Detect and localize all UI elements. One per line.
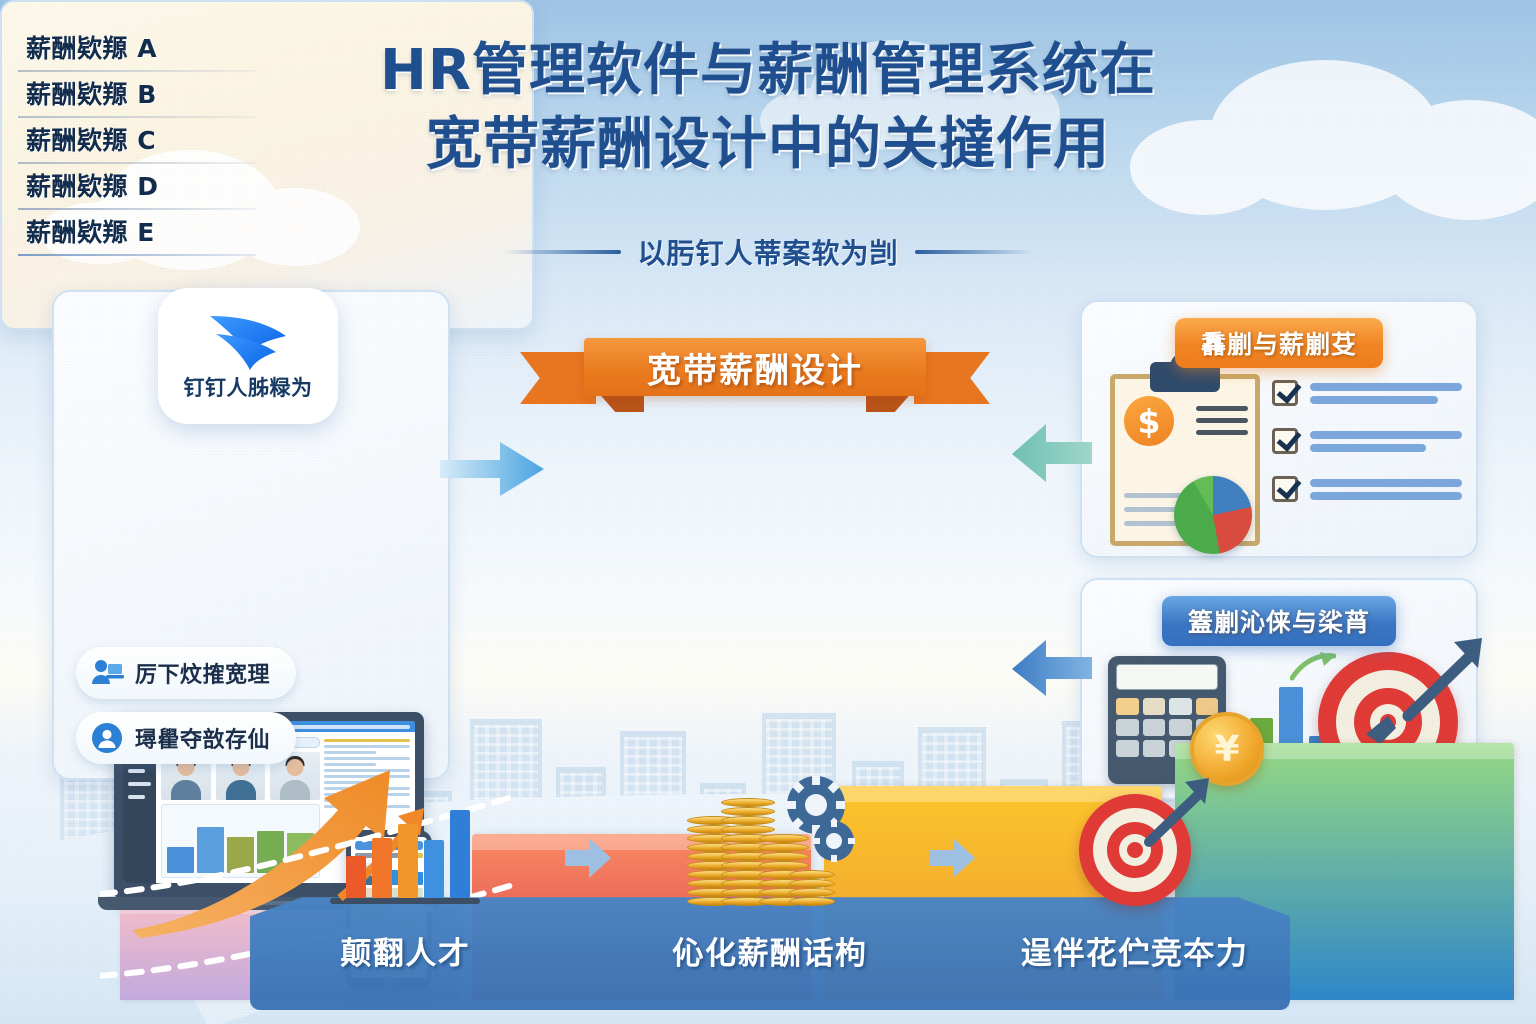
center-ribbon-banner: 宽带薪酬设计 <box>520 338 990 410</box>
flow-step-3[interactable]: 逞伴花伫竞夲力 <box>979 928 1290 973</box>
flow-step-2[interactable]: 伈化薪酬话枸 <box>615 928 926 973</box>
user-desk-icon <box>90 656 124 690</box>
user-circle-icon <box>90 721 124 755</box>
page-title: HR管理软件与薪酬管理系统在 宽带薪酬设计中的关撻作用 <box>0 34 1536 183</box>
ribbon-label: 宽带薪酬设计 <box>647 343 863 392</box>
pie-chart-icon <box>1174 476 1252 554</box>
dingtalk-logo-label: 钉钉人胏粶为 <box>184 372 313 402</box>
clipboard-icon: $ <box>1110 374 1260 546</box>
feature-tag-1[interactable]: 厉下炆搉宽理 <box>76 647 296 699</box>
flow-step-1[interactable]: 颠翻人才 <box>250 928 561 973</box>
bottom-right-badge-label: 篕剻沁俫与桬莦 <box>1188 608 1370 637</box>
dollar-coin-icon: $ <box>1124 396 1174 446</box>
checkbox-checked-icon[interactable] <box>1272 476 1298 502</box>
feature-tag-2-label: 璕雤夺敨存仙 <box>135 722 270 754</box>
checkbox-checked-icon[interactable] <box>1272 380 1298 406</box>
coin-stacks-gears-icon <box>685 776 855 906</box>
connector-top-right-to-center <box>1012 424 1092 488</box>
subtitle-rule-left <box>503 250 621 254</box>
flow-steps-row: 颠翻人才 伈化薪酬话枸 逞伴花伫竞夲力 <box>250 890 1290 1010</box>
subtitle-row: 以肟钉人蒂案软为剀 <box>0 232 1536 272</box>
subtitle-text: 以肟钉人蒂案软为剀 <box>637 232 898 272</box>
flow-step-3-label: 逞伴花伫竞夲力 <box>1021 928 1249 973</box>
checklist-item[interactable] <box>1272 476 1462 502</box>
flow-step-1-label: 颠翻人才 <box>340 928 470 973</box>
bottom-right-badge: 篕剻沁俫与桬莦 <box>1162 596 1396 646</box>
connector-left-to-center <box>440 440 548 502</box>
calculator-display <box>1116 664 1218 690</box>
dingtalk-wing-logo-icon <box>200 310 296 370</box>
flow-icon-cell-2 <box>615 776 926 906</box>
checklist-item[interactable] <box>1272 428 1462 454</box>
feature-tag-list: 厉下炆搉宽理 璕雤夺敨存仙 <box>76 647 296 764</box>
flow-step-2-label: 伈化薪酬话枸 <box>673 928 868 973</box>
top-right-badge-label: 馫剻与薪剻芟 <box>1201 330 1357 359</box>
gear-icon-small <box>813 820 855 862</box>
subtitle-rule-right <box>915 250 1033 254</box>
clipboard-text-lines <box>1196 406 1248 435</box>
title-line-1: HR管理软件与薪酬管理系统在 <box>0 34 1536 108</box>
top-right-badge: 馫剻与薪剻芟 <box>1175 318 1383 368</box>
feature-tag-1-label: 厉下炆搉宽理 <box>135 657 270 689</box>
flow-icons-row <box>250 756 1290 906</box>
checklist <box>1272 380 1462 502</box>
connector-bottom-right-to-center <box>1012 640 1092 702</box>
checkbox-checked-icon[interactable] <box>1272 428 1298 454</box>
ribbon-main: 宽带薪酬设计 <box>584 338 926 396</box>
dingtalk-logo-card[interactable]: 钉钉人胏粶为 <box>158 288 338 424</box>
title-line-2: 宽带薪酬设计中的关撻作用 <box>0 108 1536 182</box>
checklist-item[interactable] <box>1272 380 1462 406</box>
